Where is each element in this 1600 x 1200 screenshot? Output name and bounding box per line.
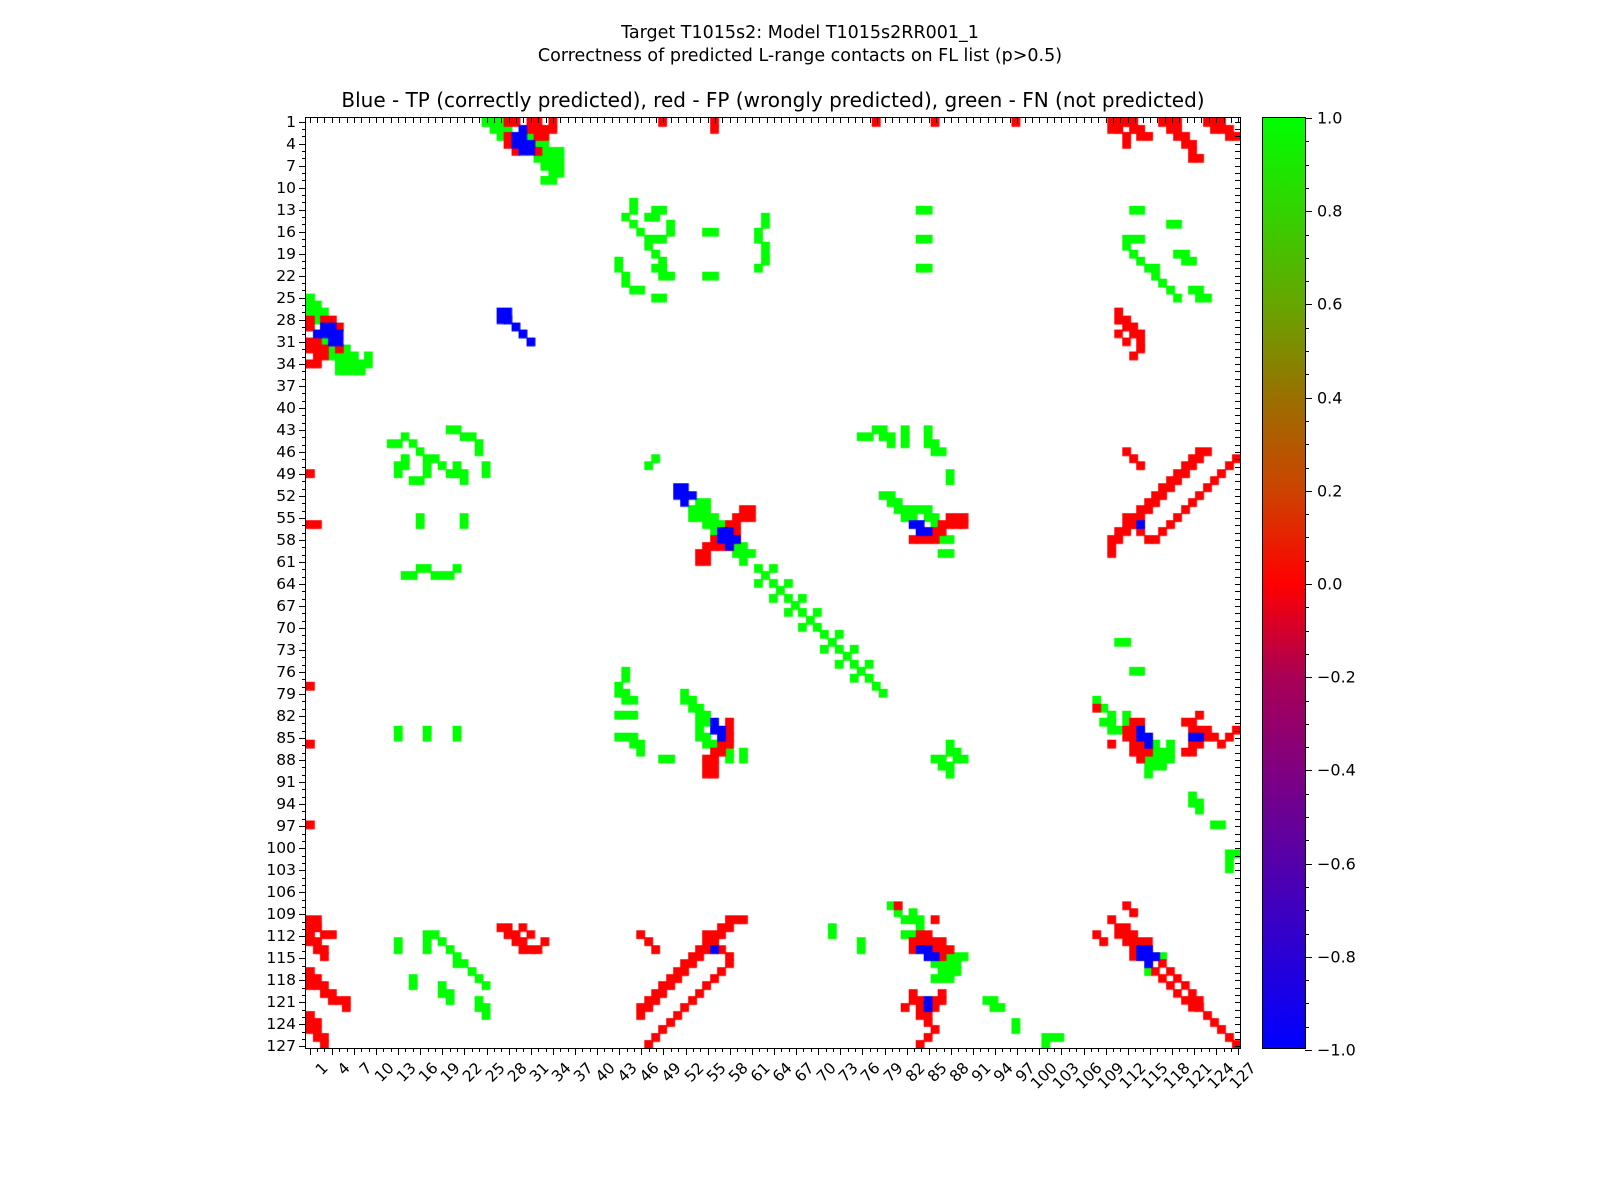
y-axis-minor-tick	[302, 951, 306, 952]
colorbar: 1.00.80.60.40.20.0−0.2−0.4−0.6−0.8−1.0	[1262, 117, 1306, 1049]
x-axis-tick	[619, 1048, 620, 1055]
y-axis-right-tick	[1235, 789, 1240, 790]
x-axis-top-tick	[789, 118, 790, 123]
y-axis-minor-tick	[302, 789, 306, 790]
y-axis-tick-label: 118	[266, 971, 296, 989]
x-axis-tick	[1061, 1048, 1062, 1055]
y-axis-minor-tick	[302, 988, 306, 989]
x-axis-top-tick	[546, 118, 547, 123]
x-axis-minor-tick	[877, 1048, 878, 1052]
x-axis-minor-tick	[767, 1048, 768, 1052]
y-axis-right-tick	[1235, 188, 1240, 189]
y-axis-minor-tick	[302, 995, 306, 996]
x-axis-top-tick	[811, 118, 812, 123]
x-axis-minor-tick	[494, 1048, 495, 1052]
y-axis-right-tick	[1235, 445, 1240, 446]
x-axis-tick	[487, 1048, 488, 1055]
x-axis-tick	[553, 1048, 554, 1055]
y-axis-right-tick	[1235, 547, 1240, 548]
y-axis-tick-label: 109	[266, 905, 296, 923]
y-axis-right-tick	[1235, 276, 1240, 277]
x-axis-minor-tick	[516, 1048, 517, 1052]
y-axis-right-tick	[1235, 826, 1240, 827]
y-axis-right-tick	[1235, 342, 1240, 343]
colorbar-tick-label: 0.4	[1317, 388, 1342, 407]
x-axis-top-tick	[332, 118, 333, 123]
x-axis-minor-tick	[1069, 1048, 1070, 1052]
y-axis-minor-tick	[302, 753, 306, 754]
y-axis-right-tick	[1235, 922, 1240, 923]
x-axis-tick	[796, 1048, 797, 1055]
colorbar-minor-tick	[1305, 934, 1309, 935]
y-axis-right-tick	[1235, 305, 1240, 306]
x-axis-tick	[951, 1048, 952, 1055]
y-axis-right-tick	[1235, 811, 1240, 812]
y-axis-minor-tick	[302, 569, 306, 570]
x-axis-tick	[1150, 1048, 1151, 1055]
y-axis-right-tick	[1235, 459, 1240, 460]
colorbar-minor-tick	[1305, 794, 1309, 795]
y-axis-minor-tick	[302, 202, 306, 203]
x-axis-tick-label: 1	[312, 1059, 332, 1079]
y-axis-right-tick	[1235, 973, 1240, 974]
y-axis-tick-label: 37	[276, 377, 296, 395]
x-axis-tick	[1128, 1048, 1129, 1055]
x-axis-tick	[1039, 1048, 1040, 1055]
y-axis-right-tick	[1235, 430, 1240, 431]
y-axis-right-tick	[1235, 136, 1240, 137]
x-axis-top-tick	[907, 118, 908, 123]
x-axis-top-tick	[1076, 118, 1077, 123]
x-axis-top-tick	[656, 118, 657, 123]
x-axis-minor-tick	[722, 1048, 723, 1052]
y-axis-tick-label: 43	[276, 421, 296, 439]
y-axis-minor-tick	[302, 929, 306, 930]
colorbar-tick	[1305, 770, 1312, 771]
x-axis-top-tick	[1238, 118, 1239, 123]
x-axis-top-tick	[509, 118, 510, 123]
x-axis-top-tick	[575, 118, 576, 123]
x-axis-top-tick	[678, 118, 679, 123]
colorbar-tick-label: 1.0	[1317, 109, 1342, 128]
x-axis-minor-tick	[936, 1048, 937, 1052]
y-axis-tick-label: 52	[276, 487, 296, 505]
y-axis-right-tick	[1235, 239, 1240, 240]
y-axis-minor-tick	[302, 533, 306, 534]
y-axis-right-tick	[1235, 804, 1240, 805]
x-axis-top-tick	[803, 118, 804, 123]
y-axis-tick-label: 61	[276, 553, 296, 571]
y-axis-right-tick	[1235, 437, 1240, 438]
y-axis-right-tick	[1235, 643, 1240, 644]
y-axis-minor-tick	[302, 709, 306, 710]
x-axis-minor-tick	[833, 1048, 834, 1052]
colorbar-minor-tick	[1305, 1003, 1309, 1004]
y-axis-right-tick	[1235, 848, 1240, 849]
x-axis-minor-tick	[383, 1048, 384, 1052]
x-axis-top-tick	[1061, 118, 1062, 123]
x-axis-top-tick	[317, 118, 318, 123]
y-axis-minor-tick	[302, 635, 306, 636]
y-axis-tick	[299, 430, 306, 431]
y-axis-right-tick	[1235, 525, 1240, 526]
x-axis-top-tick	[450, 118, 451, 123]
y-axis-tick-label: 106	[266, 883, 296, 901]
x-axis-tick	[354, 1048, 355, 1055]
y-axis-tick	[299, 144, 306, 145]
y-axis-minor-tick	[302, 665, 306, 666]
x-axis-top-tick	[936, 118, 937, 123]
y-axis-right-tick	[1235, 914, 1240, 915]
x-axis-minor-tick	[1025, 1048, 1026, 1052]
y-axis-right-tick	[1235, 775, 1240, 776]
x-axis-minor-tick	[523, 1048, 524, 1052]
y-axis-right-tick	[1235, 364, 1240, 365]
x-axis-minor-tick	[1179, 1048, 1180, 1052]
x-axis-minor-tick	[612, 1048, 613, 1052]
x-axis-minor-tick	[826, 1048, 827, 1052]
x-axis-top-tick	[929, 118, 930, 123]
x-axis-minor-tick	[1165, 1048, 1166, 1052]
colorbar-minor-tick	[1305, 840, 1309, 841]
x-axis-minor-tick	[1143, 1048, 1144, 1052]
x-axis-top-tick	[958, 118, 959, 123]
x-axis-tick	[509, 1048, 510, 1055]
y-axis-tick-label: 70	[276, 619, 296, 637]
y-axis-tick-label: 25	[276, 289, 296, 307]
y-axis-minor-tick	[302, 555, 306, 556]
colorbar-minor-tick	[1305, 817, 1309, 818]
colorbar-minor-tick	[1305, 910, 1309, 911]
x-axis-tick	[995, 1048, 996, 1055]
y-axis-right-tick	[1235, 951, 1240, 952]
x-axis-minor-tick	[347, 1048, 348, 1052]
x-axis-minor-tick	[855, 1048, 856, 1052]
y-axis-tick-label: 115	[266, 949, 296, 967]
y-axis-tick-label: 121	[266, 993, 296, 1011]
figure-title-target: Target T1015s2: Model T1015s2RR001_1	[0, 22, 1600, 45]
y-axis-right-tick	[1235, 467, 1240, 468]
colorbar-tick-label: 0.6	[1317, 295, 1342, 314]
y-axis-minor-tick	[302, 268, 306, 269]
x-axis-tick	[1216, 1048, 1217, 1055]
y-axis-tick	[299, 496, 306, 497]
y-axis-minor-tick	[302, 679, 306, 680]
colorbar-minor-tick	[1305, 514, 1309, 515]
x-axis-tick	[1194, 1048, 1195, 1055]
y-axis-right-tick	[1235, 1032, 1240, 1033]
y-axis-right-tick	[1235, 569, 1240, 570]
colorbar-tick	[1305, 211, 1312, 212]
colorbar-tick-label: 0.8	[1317, 202, 1342, 221]
y-axis-minor-tick	[302, 511, 306, 512]
y-axis-tick	[299, 364, 306, 365]
y-axis-right-tick	[1235, 210, 1240, 211]
x-axis-top-tick	[582, 118, 583, 123]
y-axis-right-tick	[1235, 232, 1240, 233]
y-axis-tick	[299, 738, 306, 739]
y-axis-right-tick	[1235, 635, 1240, 636]
x-axis-top-tick	[1047, 118, 1048, 123]
x-axis-tick	[575, 1048, 576, 1055]
y-axis-minor-tick	[302, 173, 306, 174]
y-axis-tick-label: 10	[276, 179, 296, 197]
x-axis-minor-tick	[324, 1048, 325, 1052]
x-axis-minor-tick	[450, 1048, 451, 1052]
y-axis-right-tick	[1235, 745, 1240, 746]
y-axis-right-tick	[1235, 687, 1240, 688]
y-axis-tick	[299, 606, 306, 607]
y-axis-minor-tick	[302, 327, 306, 328]
x-axis-top-tick	[376, 118, 377, 123]
x-axis-top-tick	[435, 118, 436, 123]
x-axis-top-tick	[951, 118, 952, 123]
y-axis-tick	[299, 166, 306, 167]
x-axis-tick	[1238, 1048, 1239, 1055]
x-axis-top-tick	[405, 118, 406, 123]
x-axis-top-tick	[347, 118, 348, 123]
figure-title-block: Target T1015s2: Model T1015s2RR001_1 Cor…	[0, 22, 1600, 68]
x-axis-minor-tick	[737, 1048, 738, 1052]
y-axis-right-tick	[1235, 312, 1240, 313]
x-axis-top-tick	[1010, 118, 1011, 123]
y-axis-right-tick	[1235, 958, 1240, 959]
y-axis-right-tick	[1235, 907, 1240, 908]
x-axis-tick	[1172, 1048, 1173, 1055]
y-axis-tick	[299, 848, 306, 849]
y-axis-minor-tick	[302, 731, 306, 732]
x-axis-minor-tick	[914, 1048, 915, 1052]
y-axis-minor-tick	[302, 1039, 306, 1040]
y-axis-right-tick	[1235, 474, 1240, 475]
colorbar-minor-tick	[1305, 701, 1309, 702]
x-axis-top-tick	[818, 118, 819, 123]
x-axis-top-tick	[840, 118, 841, 123]
colorbar-minor-tick	[1305, 258, 1309, 259]
y-axis-tick	[299, 276, 306, 277]
y-axis-right-tick	[1235, 782, 1240, 783]
y-axis-right-tick	[1235, 995, 1240, 996]
y-axis-minor-tick	[302, 467, 306, 468]
x-axis-tick	[442, 1048, 443, 1055]
x-axis-minor-tick	[501, 1048, 502, 1052]
colorbar-tick	[1305, 864, 1312, 865]
y-axis-right-tick	[1235, 379, 1240, 380]
x-axis-minor-tick	[899, 1048, 900, 1052]
y-axis-tick	[299, 936, 306, 937]
y-axis-right-tick	[1235, 1039, 1240, 1040]
x-axis-minor-tick	[1032, 1048, 1033, 1052]
y-axis-minor-tick	[302, 767, 306, 768]
colorbar-minor-tick	[1305, 747, 1309, 748]
y-axis-right-tick	[1235, 481, 1240, 482]
y-axis-tick	[299, 694, 306, 695]
y-axis-minor-tick	[302, 775, 306, 776]
y-axis-tick-label: 97	[276, 817, 296, 835]
y-axis-right-tick	[1235, 738, 1240, 739]
x-axis-tick	[398, 1048, 399, 1055]
x-axis-top-tick	[708, 118, 709, 123]
y-axis-right-tick	[1235, 672, 1240, 673]
x-axis-top-tick	[590, 118, 591, 123]
x-axis-minor-tick	[1120, 1048, 1121, 1052]
x-axis-top-tick	[560, 118, 561, 123]
x-axis-top-tick	[1106, 118, 1107, 123]
y-axis-right-tick	[1235, 1010, 1240, 1011]
y-axis-minor-tick	[302, 195, 306, 196]
y-axis-right-tick	[1235, 518, 1240, 519]
y-axis-right-tick	[1235, 386, 1240, 387]
colorbar-minor-tick	[1305, 444, 1309, 445]
x-axis-tick	[663, 1048, 664, 1055]
y-axis-minor-tick	[302, 701, 306, 702]
x-axis-minor-tick	[958, 1048, 959, 1052]
colorbar-minor-tick	[1305, 724, 1309, 725]
y-axis-minor-tick	[302, 305, 306, 306]
x-axis-top-tick	[1143, 118, 1144, 123]
y-axis-tick	[299, 540, 306, 541]
y-axis-minor-tick	[302, 459, 306, 460]
x-axis-top-tick	[428, 118, 429, 123]
colorbar-minor-tick	[1305, 351, 1309, 352]
y-axis-minor-tick	[302, 643, 306, 644]
y-axis-minor-tick	[302, 290, 306, 291]
y-axis-minor-tick	[302, 401, 306, 402]
y-axis-right-tick	[1235, 980, 1240, 981]
y-axis-tick	[299, 914, 306, 915]
x-axis-top-tick	[737, 118, 738, 123]
x-axis-minor-tick	[700, 1048, 701, 1052]
y-axis-tick	[299, 188, 306, 189]
x-axis-top-tick	[1165, 118, 1166, 123]
y-axis-minor-tick	[302, 621, 306, 622]
x-axis-tick-label: 4	[334, 1059, 354, 1079]
x-axis-minor-tick	[546, 1048, 547, 1052]
x-axis-top-tick	[487, 118, 488, 123]
y-axis-minor-tick	[302, 1010, 306, 1011]
x-axis-minor-tick	[369, 1048, 370, 1052]
x-axis-minor-tick	[479, 1048, 480, 1052]
colorbar-tick	[1305, 398, 1312, 399]
y-axis-minor-tick	[302, 900, 306, 901]
x-axis-minor-tick	[1002, 1048, 1003, 1052]
y-axis-tick	[299, 562, 306, 563]
y-axis-tick-label: 127	[266, 1037, 296, 1055]
y-axis-tick-label: 31	[276, 333, 296, 351]
x-axis-minor-tick	[656, 1048, 657, 1052]
x-axis-top-tick	[1025, 118, 1026, 123]
y-axis-right-tick	[1235, 129, 1240, 130]
colorbar-minor-tick	[1305, 631, 1309, 632]
y-axis-minor-tick	[302, 922, 306, 923]
y-axis-right-tick	[1235, 988, 1240, 989]
y-axis-minor-tick	[302, 797, 306, 798]
y-axis-right-tick	[1235, 1017, 1240, 1018]
x-axis-top-tick	[1194, 118, 1195, 123]
x-axis-top-tick	[862, 118, 863, 123]
y-axis-right-tick	[1235, 489, 1240, 490]
y-axis-tick-label: 28	[276, 311, 296, 329]
x-axis-top-tick	[612, 118, 613, 123]
y-axis-right-tick	[1235, 1024, 1240, 1025]
y-axis-tick	[299, 672, 306, 673]
y-axis-tick	[299, 1002, 306, 1003]
y-axis-minor-tick	[302, 239, 306, 240]
y-axis-tick-label: 19	[276, 245, 296, 263]
y-axis-tick	[299, 518, 306, 519]
y-axis-minor-tick	[302, 379, 306, 380]
y-axis-minor-tick	[302, 312, 306, 313]
y-axis-minor-tick	[302, 349, 306, 350]
y-axis-right-tick	[1235, 195, 1240, 196]
x-axis-top-tick	[759, 118, 760, 123]
x-axis-top-tick	[1002, 118, 1003, 123]
x-axis-minor-tick	[457, 1048, 458, 1052]
y-axis-minor-tick	[302, 445, 306, 446]
colorbar-minor-tick	[1305, 165, 1309, 166]
y-axis-tick-label: 103	[266, 861, 296, 879]
x-axis-tick	[929, 1048, 930, 1055]
y-axis-minor-tick	[302, 423, 306, 424]
x-axis-minor-tick	[560, 1048, 561, 1052]
y-axis-tick	[299, 870, 306, 871]
y-axis-minor-tick	[302, 577, 306, 578]
colorbar-minor-tick	[1305, 141, 1309, 142]
y-axis-tick-label: 85	[276, 729, 296, 747]
x-axis-top-tick	[767, 118, 768, 123]
y-axis-tick	[299, 474, 306, 475]
contact-map-plot[interactable]: 1471013161922252831343740434649525558616…	[305, 117, 1241, 1049]
y-axis-tick-label: 124	[266, 1015, 296, 1033]
x-axis-top-tick	[420, 118, 421, 123]
x-axis-minor-tick	[435, 1048, 436, 1052]
x-axis-top-tick	[1179, 118, 1180, 123]
contact-map-matrix[interactable]	[306, 118, 1240, 1048]
x-axis-top-tick	[604, 118, 605, 123]
y-axis-right-tick	[1235, 158, 1240, 159]
x-axis-tick	[862, 1048, 863, 1055]
x-axis-top-tick	[966, 118, 967, 123]
y-axis-tick-label: 67	[276, 597, 296, 615]
x-axis-minor-tick	[413, 1048, 414, 1052]
x-axis-top-tick	[892, 118, 893, 123]
x-axis-minor-tick	[538, 1048, 539, 1052]
colorbar-tick-label: −0.4	[1317, 761, 1356, 780]
y-axis-tick	[299, 782, 306, 783]
y-axis-minor-tick	[302, 878, 306, 879]
y-axis-tick	[299, 958, 306, 959]
x-axis-top-tick	[1172, 118, 1173, 123]
y-axis-tick	[299, 386, 306, 387]
y-axis-right-tick	[1235, 885, 1240, 886]
y-axis-minor-tick	[302, 591, 306, 592]
y-axis-tick-label: 22	[276, 267, 296, 285]
y-axis-right-tick	[1235, 452, 1240, 453]
colorbar-tick-label: −0.8	[1317, 947, 1356, 966]
y-axis-tick-label: 1	[286, 113, 296, 131]
y-axis-minor-tick	[302, 489, 306, 490]
x-axis-top-tick	[1224, 118, 1225, 123]
y-axis-right-tick	[1235, 151, 1240, 152]
x-axis-top-tick	[1039, 118, 1040, 123]
x-axis-top-tick	[568, 118, 569, 123]
x-axis-top-tick	[885, 118, 886, 123]
colorbar-tick	[1305, 677, 1312, 678]
x-axis-top-tick	[686, 118, 687, 123]
colorbar-minor-tick	[1305, 654, 1309, 655]
y-axis-tick	[299, 760, 306, 761]
x-axis-tick	[376, 1048, 377, 1055]
